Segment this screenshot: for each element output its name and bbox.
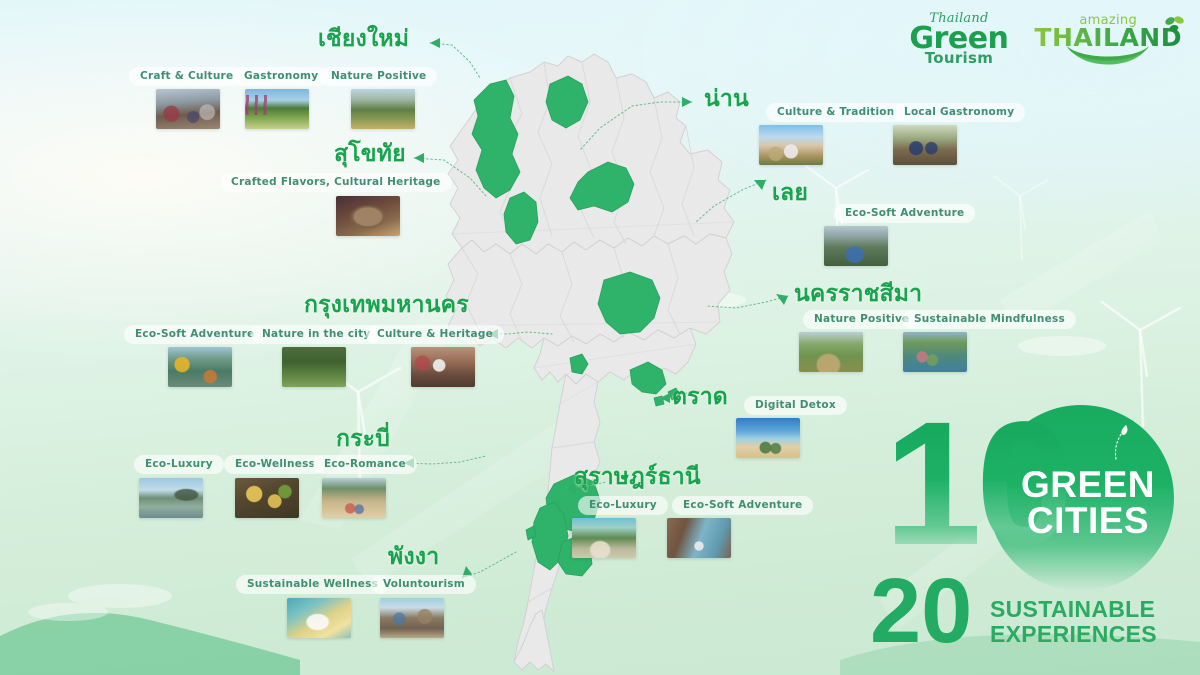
badge-experiences-label: SUSTAINABLE EXPERIENCES: [990, 597, 1176, 647]
city-label-sukhothai[interactable]: สุโขทัย: [334, 143, 406, 166]
experience-pill[interactable]: Eco-Wellness: [224, 455, 326, 474]
experience-pill[interactable]: Eco-Soft Adventure: [834, 204, 975, 223]
experience-pill[interactable]: Nature in the city: [251, 325, 382, 344]
experience-thumbnail[interactable]: [287, 598, 351, 638]
experience-pill[interactable]: Eco-Luxury: [134, 455, 224, 474]
experience-thumbnail[interactable]: [235, 478, 299, 518]
city-label-phang-nga[interactable]: พังงา: [388, 546, 439, 569]
experience-pill[interactable]: Eco-Romance: [313, 455, 417, 474]
city-label-surat-thani[interactable]: สุราษฎร์ธานี: [574, 466, 701, 489]
green-cities-badge: 10 GREEN CITIES 20 SUSTAINABLE EXPERIENC…: [876, 405, 1176, 657]
experience-pill[interactable]: Nature Positive: [320, 67, 437, 86]
experience-pill[interactable]: Eco-Luxury: [578, 496, 668, 515]
experience-pill[interactable]: Sustainable Mindfulness: [903, 310, 1076, 329]
experience-thumbnail[interactable]: [380, 598, 444, 638]
badge-experiences-line-2: EXPERIENCES: [990, 622, 1176, 647]
experience-pill[interactable]: Culture & Tradition: [766, 103, 906, 122]
badge-experiences-line-1: SUSTAINABLE: [990, 597, 1176, 622]
experience-pill[interactable]: Voluntourism: [372, 575, 476, 594]
experience-pill[interactable]: Gastronomy: [233, 67, 329, 86]
experience-thumbnail[interactable]: [322, 478, 386, 518]
city-label-nakhon-ratchasima[interactable]: นครราชสีมา: [794, 283, 922, 306]
experience-pill[interactable]: Digital Detox: [744, 396, 847, 415]
infographic-canvas: เชียงใหม่ Craft & Culture Gastronomy Nat…: [0, 0, 1200, 675]
experience-pill[interactable]: Culture & Heritage: [366, 325, 504, 344]
city-label-loei[interactable]: เลย: [772, 182, 808, 205]
experience-thumbnail[interactable]: [168, 347, 232, 387]
experience-thumbnail[interactable]: [799, 332, 863, 372]
experience-thumbnail[interactable]: [282, 347, 346, 387]
city-label-nan[interactable]: น่าน: [704, 88, 749, 111]
experience-thumbnail[interactable]: [351, 89, 415, 129]
badge-count-experiences: 20: [870, 570, 972, 653]
experience-pill[interactable]: Crafted Flavors, Cultural Heritage: [220, 173, 452, 192]
experience-thumbnail[interactable]: [824, 226, 888, 266]
experience-thumbnail[interactable]: [411, 347, 475, 387]
swoosh-icon: [1065, 44, 1151, 70]
experience-thumbnail[interactable]: [336, 196, 400, 236]
thailand-green-tourism-logo: Thailand Green Tourism: [909, 12, 1008, 66]
experience-thumbnail[interactable]: [893, 125, 957, 165]
badge-cities-line-2: CITIES: [1008, 503, 1168, 539]
city-label-bangkok[interactable]: กรุงเทพมหานคร: [304, 294, 469, 317]
amazing-thailand-logo: amazing THAILAND: [1034, 12, 1182, 74]
badge-cities-line-1: GREEN: [1008, 467, 1168, 503]
experience-thumbnail[interactable]: [736, 418, 800, 458]
experience-pill[interactable]: Eco-Soft Adventure: [672, 496, 813, 515]
sprout-icon: [1102, 421, 1132, 461]
experience-thumbnail[interactable]: [759, 125, 823, 165]
city-label-chiang-mai[interactable]: เชียงใหม่: [318, 28, 409, 51]
experience-pill[interactable]: Local Gastronomy: [893, 103, 1025, 122]
leaves-icon: [1162, 14, 1188, 36]
experience-thumbnail[interactable]: [667, 518, 731, 558]
experience-thumbnail[interactable]: [156, 89, 220, 129]
experience-thumbnail[interactable]: [903, 332, 967, 372]
experience-pill[interactable]: Sustainable Wellness: [236, 575, 389, 594]
badge-cities-label: GREEN CITIES: [1008, 467, 1168, 539]
city-label-trat[interactable]: ตราด: [672, 386, 728, 409]
experience-thumbnail[interactable]: [139, 478, 203, 518]
experience-thumbnail[interactable]: [245, 89, 309, 129]
city-label-krabi[interactable]: กระบี่: [336, 428, 390, 451]
experience-pill[interactable]: Eco-Soft Adventure: [124, 325, 265, 344]
logo-bar: Thailand Green Tourism amazing THAILAND: [909, 12, 1182, 74]
experience-pill[interactable]: Craft & Culture: [129, 67, 244, 86]
experience-thumbnail[interactable]: [572, 518, 636, 558]
